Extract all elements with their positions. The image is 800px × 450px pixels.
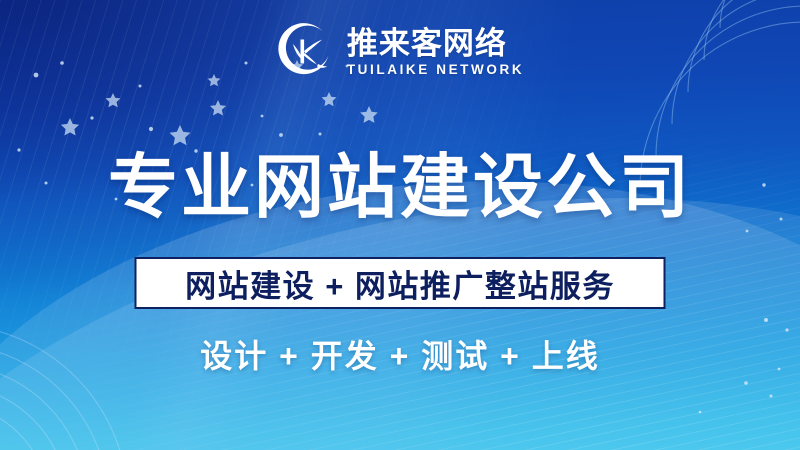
crescent-k-emblem-icon xyxy=(276,22,336,82)
logo: 推来客网络 TUILAIKE NETWORK xyxy=(0,22,800,82)
page-title: 专业网站建设公司 xyxy=(0,131,800,232)
subtitle-box: 网站建设 + 网站推广整站服务 xyxy=(135,257,666,309)
tagline: 设计 + 开发 + 测试 + 上线 xyxy=(0,331,800,377)
logo-company-name-cn: 推来客网络 xyxy=(347,28,524,59)
subtitle-box-border: 网站建设 + 网站推广整站服务 xyxy=(135,257,666,309)
subtitle-text: 网站建设 + 网站推广整站服务 xyxy=(185,261,615,306)
promo-banner: 推来客网络 TUILAIKE NETWORK 专业网站建设公司 网站建设 + 网… xyxy=(0,0,800,450)
logo-company-name-en: TUILAIKE NETWORK xyxy=(347,63,524,77)
